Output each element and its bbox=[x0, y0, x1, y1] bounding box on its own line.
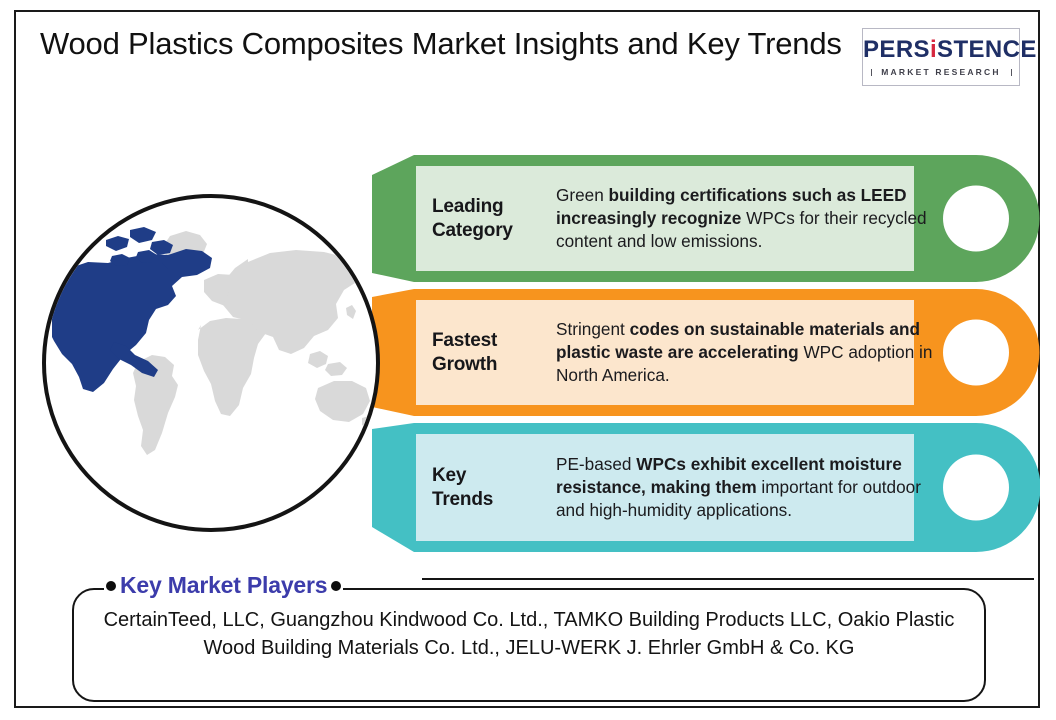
band-label-line1: Fastest bbox=[432, 330, 497, 351]
band-content-fastest-growth: Fastest Growth Stringent codes on sustai… bbox=[416, 300, 958, 405]
band-label-line1: Key bbox=[432, 465, 466, 486]
bullet-dot-left-icon bbox=[106, 581, 116, 591]
insight-band-leading-category: Leading Category Green building certific… bbox=[372, 155, 1040, 282]
logo-subtitle: MARKET RESEARCH bbox=[881, 67, 1000, 77]
players-heading: Key Market Players bbox=[120, 572, 327, 599]
band-label-leading-category: Leading Category bbox=[432, 195, 550, 241]
band-text-key-trends: PE-based WPCs exhibit excellent moisture… bbox=[550, 453, 952, 522]
band-label-key-trends: Key Trends bbox=[432, 464, 550, 510]
infographic-frame: Wood Plastics Composites Market Insights… bbox=[14, 10, 1040, 708]
band-label-fastest-growth: Fastest Growth bbox=[432, 329, 550, 375]
insight-band-fastest-growth: Fastest Growth Stringent codes on sustai… bbox=[372, 289, 1040, 416]
bullet-dot-right-icon bbox=[331, 581, 341, 591]
band-text-part: Stringent bbox=[556, 319, 630, 339]
logo-wordmark: PERSiSTENCE bbox=[863, 36, 1019, 64]
logo-subtitle-row: MARKET RESEARCH bbox=[871, 67, 1011, 77]
logo-word-post: STENCE bbox=[937, 36, 1037, 63]
page-title: Wood Plastics Composites Market Insights… bbox=[40, 26, 860, 63]
brand-logo: PERSiSTENCE MARKET RESEARCH bbox=[862, 28, 1020, 86]
players-heading-group: Key Market Players bbox=[104, 572, 343, 599]
band-content-key-trends: Key Trends PE-based WPCs exhibit excelle… bbox=[416, 434, 958, 541]
players-heading-rule bbox=[422, 577, 1034, 580]
band-text-part: PE-based bbox=[556, 454, 636, 474]
logo-word-pre: PERS bbox=[863, 36, 930, 63]
band-label-line1: Leading bbox=[432, 196, 503, 217]
band-text-fastest-growth: Stringent codes on sustainable materials… bbox=[550, 318, 952, 387]
band-text-leading-category: Green building certifications such as LE… bbox=[550, 184, 952, 253]
band-label-line2: Category bbox=[432, 220, 513, 241]
world-map-circle bbox=[42, 194, 380, 532]
header: Wood Plastics Composites Market Insights… bbox=[16, 12, 1038, 122]
band-label-line2: Trends bbox=[432, 489, 493, 510]
band-label-line2: Growth bbox=[432, 354, 497, 375]
logo-word-i: i bbox=[930, 36, 937, 63]
band-text-part: Green bbox=[556, 185, 609, 205]
key-market-players-box: Key Market Players CertainTeed, LLC, Gua… bbox=[72, 588, 986, 702]
insight-band-key-trends: Key Trends PE-based WPCs exhibit excelle… bbox=[372, 423, 1040, 552]
players-list-text: CertainTeed, LLC, Guangzhou Kindwood Co.… bbox=[96, 606, 962, 662]
band-content-leading-category: Leading Category Green building certific… bbox=[416, 166, 958, 271]
